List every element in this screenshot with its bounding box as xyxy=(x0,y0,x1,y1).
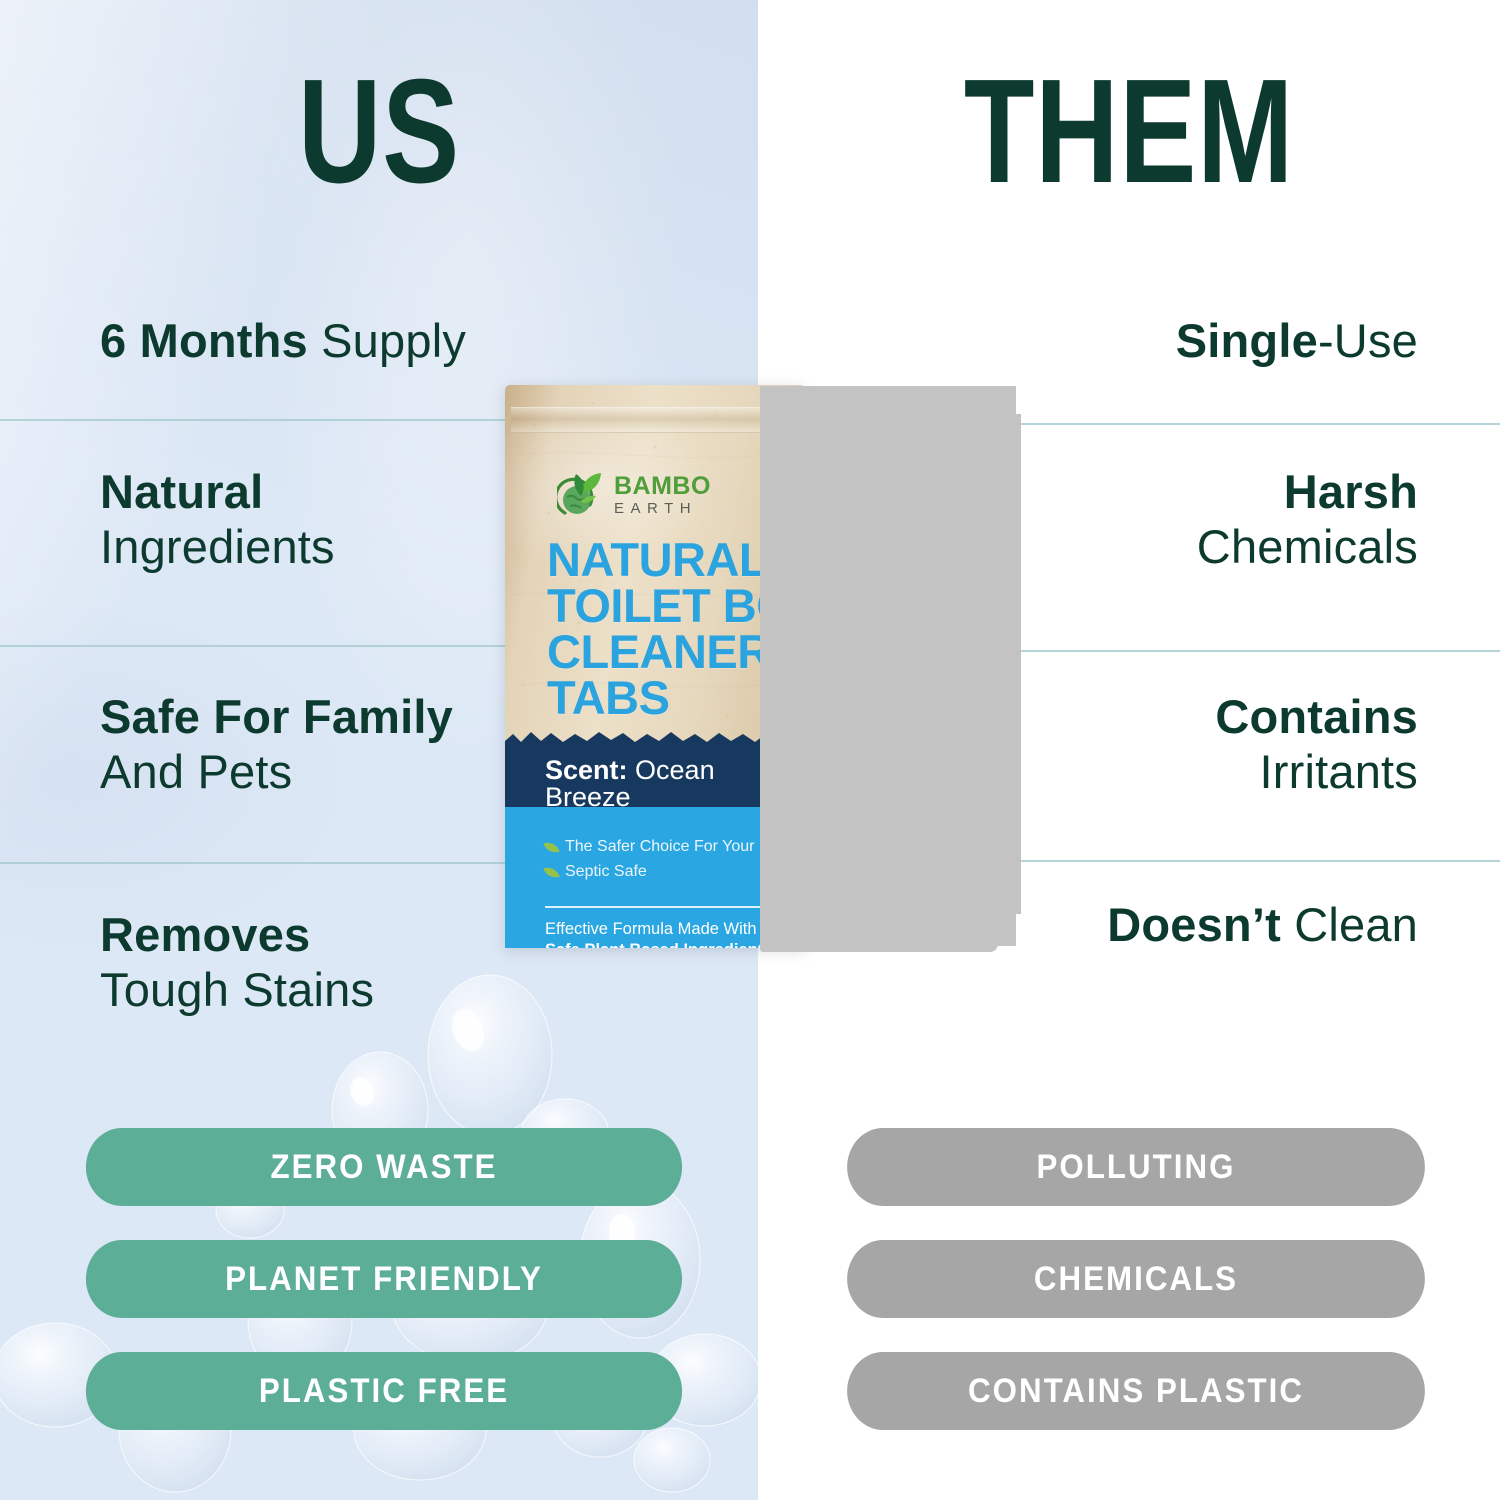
brand-name-secondary: EARTH xyxy=(614,501,711,516)
badge-contains-plastic[interactable]: CONTAINS PLASTIC xyxy=(847,1352,1425,1430)
brand-logo-text: BAMBO EARTH xyxy=(614,474,711,516)
package-bullet-1-text: Septic Safe xyxy=(565,860,647,885)
feature-right-0: Single-Use xyxy=(798,314,1418,369)
page-title-them: THEM xyxy=(840,58,1419,206)
leaf-bullet-icon xyxy=(543,864,559,880)
gray-redaction-overlay xyxy=(760,386,1016,946)
package-scent-label: Scent: xyxy=(545,755,628,785)
feature-left-0-bold: 6 Months xyxy=(100,314,308,367)
brand-name-primary: BAMBO xyxy=(614,474,711,499)
feature-right-2-bold: Contains xyxy=(1215,690,1418,743)
badge-chemicals[interactable]: CHEMICALS xyxy=(847,1240,1425,1318)
feature-right-1-bold: Harsh xyxy=(1284,465,1418,518)
badge-contains-plastic-label: CONTAINS PLASTIC xyxy=(968,1372,1304,1411)
brand-logo: BAMBO EARTH xyxy=(557,471,711,519)
feature-right-0-bold: Single xyxy=(1176,314,1318,367)
feature-right-3-bold: Doesn’t xyxy=(1107,898,1281,951)
badge-chemicals-label: CHEMICALS xyxy=(1034,1260,1238,1299)
feature-right-2-line2: Irritants xyxy=(1260,745,1419,798)
package-zipper-seal xyxy=(511,407,799,433)
leaf-globe-icon xyxy=(557,471,607,519)
badge-planet-friendly[interactable]: PLANET FRIENDLY xyxy=(86,1240,682,1318)
feature-right-1-line2: Chemicals xyxy=(1197,520,1418,573)
badge-planet-friendly-label: PLANET FRIENDLY xyxy=(225,1260,543,1299)
leaf-bullet-icon xyxy=(543,839,559,855)
badge-plastic-free-label: PLASTIC FREE xyxy=(259,1372,509,1411)
feature-right-0-regular: -Use xyxy=(1318,314,1418,367)
feature-left-0-regular: Supply xyxy=(308,314,466,367)
feature-left-2-bold: Safe For Family xyxy=(100,690,453,743)
badge-plastic-free[interactable]: PLASTIC FREE xyxy=(86,1352,682,1430)
badge-zero-waste-label: ZERO WASTE xyxy=(270,1148,497,1187)
badge-zero-waste[interactable]: ZERO WASTE xyxy=(86,1128,682,1206)
badge-polluting[interactable]: POLLUTING xyxy=(847,1128,1425,1206)
feature-left-1-line2: Ingredients xyxy=(100,520,335,573)
feature-left-3-line2: Tough Stains xyxy=(100,963,374,1016)
feature-left-2-line2: And Pets xyxy=(100,745,292,798)
feature-left-1-bold: Natural xyxy=(100,465,263,518)
feature-left-0: 6 Months Supply xyxy=(100,314,720,369)
badge-polluting-label: POLLUTING xyxy=(1037,1148,1236,1187)
feature-left-3-bold: Removes xyxy=(100,908,310,961)
feature-right-3-regular: Clean xyxy=(1281,898,1418,951)
comparison-infographic: US 6 Months Supply Natural Ingredients S… xyxy=(0,0,1500,1500)
page-title-us: US xyxy=(83,58,674,206)
package-divider xyxy=(545,906,783,908)
